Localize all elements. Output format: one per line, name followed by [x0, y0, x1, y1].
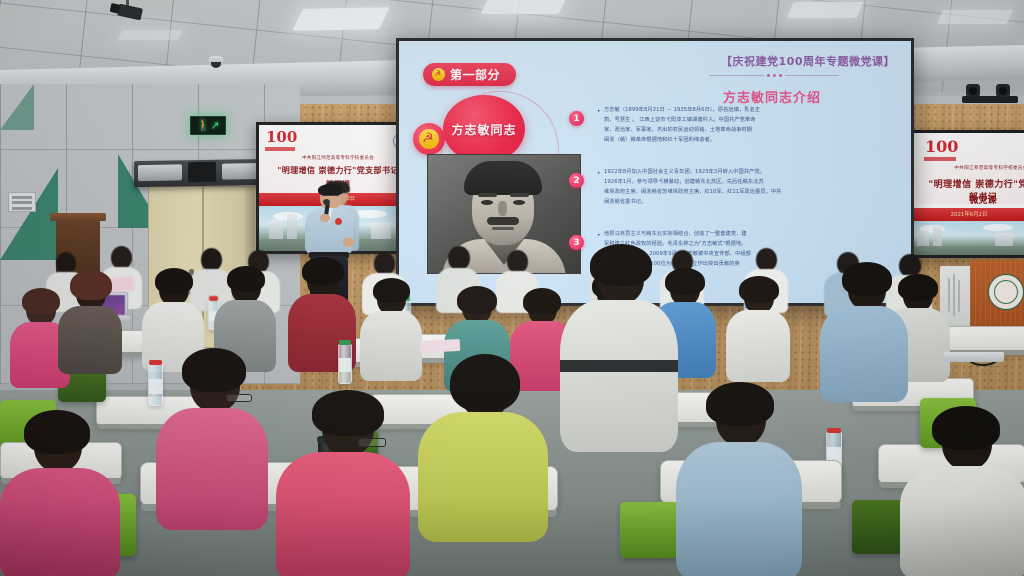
bullet-number-3: 3 — [569, 235, 584, 250]
exit-icon: 🚶↗ — [197, 120, 220, 131]
presenter-hand — [343, 238, 354, 247]
logo-underline — [924, 157, 956, 161]
audience-person — [58, 276, 122, 372]
bullet-line: 维埃政府主席、闽浙赣省苏维埃政府主席，红10军、红11军政治委员，中共 — [604, 187, 894, 197]
wall-camera-icon — [996, 84, 1010, 97]
bullet-line: 1926年1月，参与领导弋横暴动，创建赣东北苏区。先后任赣东北苏 — [604, 177, 894, 187]
bullet-line: 家、政治家、军事家，杰出的农民运动领袖，土地革命战争时期 — [604, 125, 894, 135]
ceiling-light-panel — [786, 2, 863, 18]
sub-title-line: 微党课 — [911, 193, 1024, 206]
eyeglasses — [358, 438, 386, 447]
bullet-number-1: 1 — [569, 111, 584, 126]
lectern-front-panel — [970, 260, 1024, 334]
right-display-content: 100 中共阳江师范高等专科学校委员会 "明理增信 崇德力行"党支部书记 微党课… — [911, 133, 1024, 255]
audience-person — [560, 252, 678, 448]
side-podium-top — [50, 213, 106, 221]
section-badge: ☭ 第一部分 — [423, 63, 516, 86]
audience-person — [676, 390, 802, 576]
mic-head — [323, 199, 330, 205]
lecture-hall-photo: 🚶↗ 100 中共阳江师范高等专科学校委员会 "明理增信 崇德力行"党支部书记 … — [0, 0, 1024, 576]
party-badge — [335, 218, 342, 225]
org-line: 中共阳江师范高等专科学校委员会 — [911, 165, 1024, 171]
camera-mount-bar — [962, 96, 1018, 103]
audience-person — [360, 282, 422, 378]
bullet-line: 闽浙赣省委书记。 — [604, 197, 894, 207]
audience-person — [0, 418, 120, 576]
slide-title: 方志敏同志介绍 — [651, 87, 893, 106]
papers — [420, 339, 461, 353]
audience-person — [820, 268, 908, 398]
header-divider — [709, 71, 839, 79]
audience-person — [156, 356, 268, 526]
section-badge-label: 第一部分 — [450, 66, 500, 83]
subject-circle: 方志敏同志 — [443, 95, 525, 163]
party-emblem-icon: ☭ — [419, 129, 439, 149]
ceiling-light-panel — [481, 0, 566, 14]
date-line: 2021年6月2日 — [911, 210, 1024, 218]
bullet-number-2: 2 — [569, 173, 584, 188]
dome-camera-icon — [208, 56, 224, 67]
bullet-line: 鹑，号慧生 。 江西上饶市弋阳漆工镇湖塘村人。中国共产党革命 — [604, 115, 894, 125]
bullet-line: 闽浙（赣）赣革命根据地和红十军团的缔造者。 — [604, 135, 894, 145]
chair — [620, 502, 682, 558]
wall-switch-plate[interactable] — [8, 192, 36, 212]
exit-sign: 🚶↗ — [190, 116, 226, 135]
keyboard[interactable] — [944, 352, 1004, 362]
bullet-paragraph-2: • 1922年8月加入中国社会主义青年团，1923年3月转入中国共产党。 192… — [604, 167, 894, 208]
audience-person — [726, 280, 790, 380]
ceiling-light-panel — [937, 10, 1013, 24]
ceiling-light-panel — [292, 7, 389, 31]
anniversary-logo: 100 — [266, 130, 297, 145]
bullet-paragraph-1: • 方志敏（1899年8月21日 － 1935年8月6日），原名远镇，乳名正 鹑… — [604, 105, 894, 146]
party-emblem-icon: ☭ — [432, 68, 445, 81]
audience-person — [276, 398, 410, 576]
eyeglasses — [226, 394, 252, 402]
wall-camera-icon — [966, 84, 980, 97]
bullet-line: 1922年8月加入中国社会主义青年团，1923年3月转入中国共产党。 — [604, 167, 894, 177]
door-header-equipment — [134, 159, 272, 187]
bullet-line: 他把马克思主义与赣东北实际相结合，创造了一整套建党、建 — [604, 229, 899, 239]
slide-header-banner: 【庆祝建党100周年专题微党课】 — [721, 53, 895, 69]
ceiling-light-panel — [117, 30, 182, 40]
audience-person — [418, 364, 548, 540]
logo-underline — [265, 147, 295, 151]
party-emblem-circle: ☭ — [413, 123, 445, 155]
main-title-line: "明理增信 崇德力行"党支部书记 — [259, 165, 417, 176]
org-line: 中共阳江师范高等专科学校委员会 — [259, 155, 417, 161]
bullet-line: 方志敏（1899年8月21日 － 1935年8月6日），原名远镇，乳名正 — [604, 105, 894, 115]
right-display-screen[interactable]: 100 中共阳江师范高等专科学校委员会 "明理增信 崇德力行"党支部书记 微党课… — [908, 130, 1024, 258]
anniversary-logo: 100 — [925, 139, 958, 155]
campus-photo — [911, 221, 1024, 255]
audience-person — [900, 414, 1024, 576]
school-emblem-icon — [988, 274, 1024, 310]
presenter-hand — [320, 214, 330, 222]
water-bottle — [338, 344, 352, 384]
subject-circle-label: 方志敏同志 — [451, 121, 516, 138]
green-triangle-decor — [0, 84, 34, 130]
